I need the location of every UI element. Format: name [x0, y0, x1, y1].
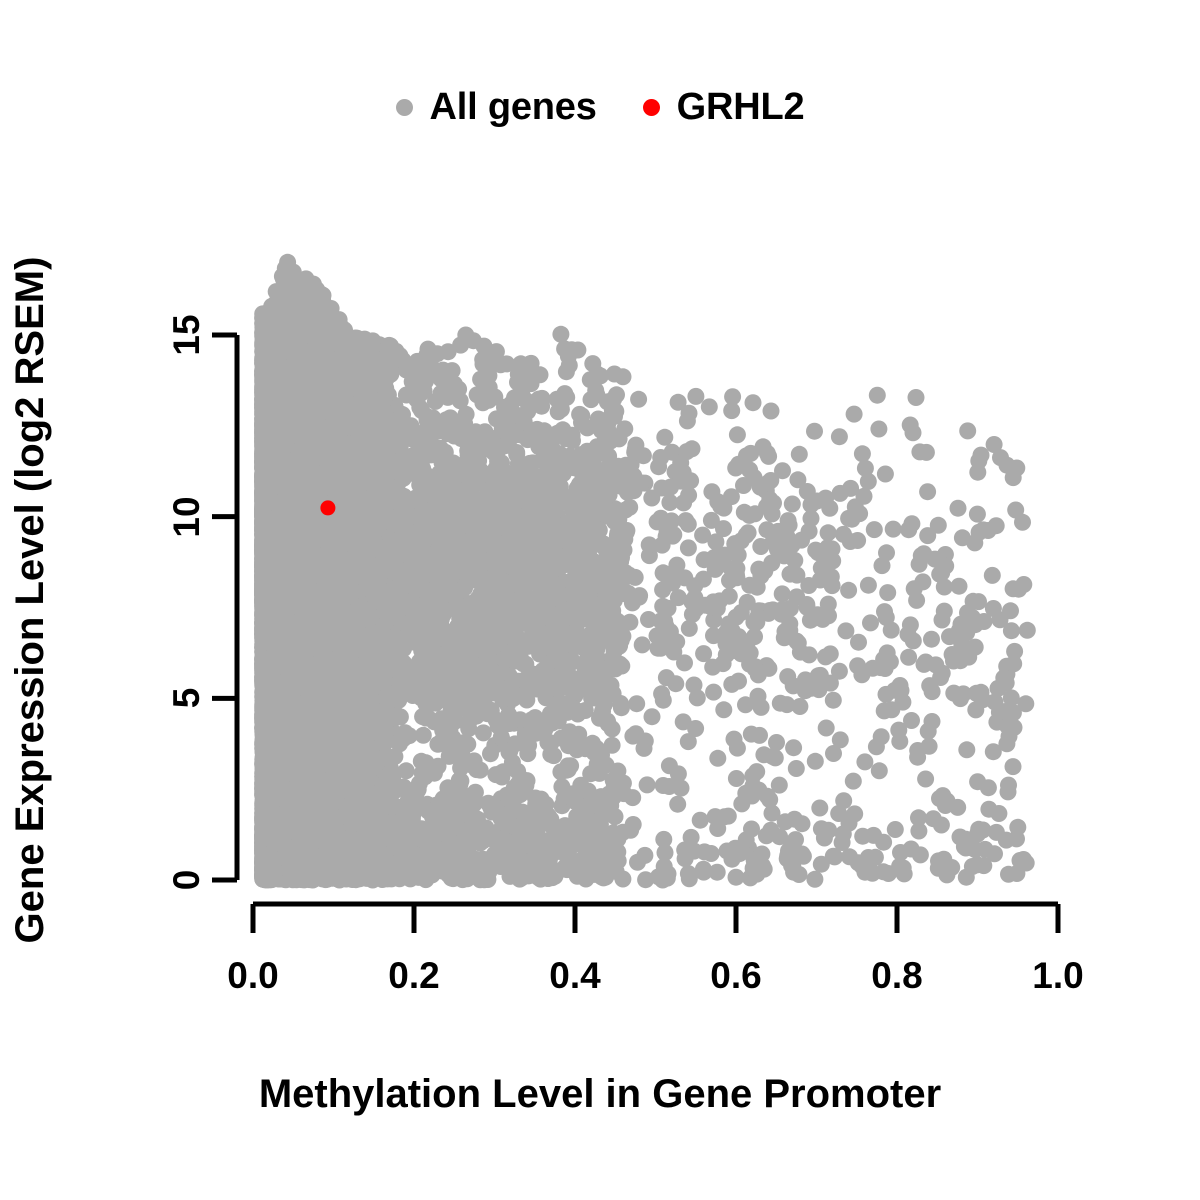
plot-canvas: [0, 0, 1200, 1200]
y-tick-label-5: 5: [165, 676, 209, 720]
x-tick-label-0-6: 0.6: [676, 955, 796, 997]
x-tick-label-0-8: 0.8: [837, 955, 957, 997]
x-tick-label-0-2: 0.2: [354, 955, 474, 997]
scatter-plot-figure: All genes GRHL2 0 5 10 15 0.0 0.2 0.4 0.…: [0, 0, 1200, 1200]
y-axis-label: Gene Expression Level (log2 RSEM): [0, 0, 60, 1200]
y-tick-label-10: 10: [165, 495, 209, 539]
highlight-point-layer: [320, 500, 335, 515]
x-tick-label-1-0: 1.0: [998, 955, 1118, 997]
y-tick-label-15: 15: [165, 313, 209, 357]
x-tick-label-0-4: 0.4: [515, 955, 635, 997]
x-axis-label: Methylation Level in Gene Promoter: [0, 1072, 1200, 1117]
x-tick-label-0-0: 0.0: [193, 955, 313, 997]
data-points-layer: [254, 254, 1036, 889]
y-tick-label-0: 0: [165, 858, 209, 902]
